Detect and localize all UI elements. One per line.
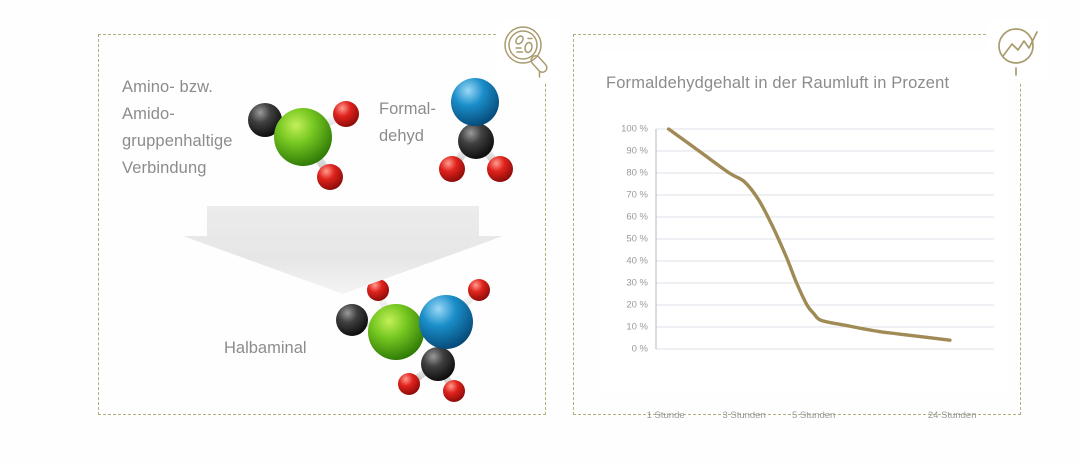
chart-y-tick-label: 50 % xyxy=(626,234,648,245)
chart-x-tick-label: 24 Stunden xyxy=(928,410,977,421)
reaction-arrow-down-icon xyxy=(183,206,503,294)
chart-y-tick-label: 0 % xyxy=(632,344,648,355)
chart-x-tick-label: 5 Stunden xyxy=(792,410,835,421)
chart-y-tick-label: 80 % xyxy=(626,168,648,179)
chart-x-tick-label: 3 Stunden xyxy=(722,410,765,421)
chart-x-tick-label: 1 Stunde xyxy=(647,410,685,421)
chart-y-axis-labels: 100 %90 %80 %70 %60 %50 %40 %30 %20 %10 … xyxy=(598,112,648,337)
chart-y-tick-label: 100 % xyxy=(621,124,648,135)
chart-x-axis-labels: 1 Stunde3 Stunden5 Stunden24 Stunden xyxy=(598,410,1006,428)
magnifier-germ-badge xyxy=(498,20,560,82)
trend-chart-badge xyxy=(988,20,1050,82)
chart-y-tick-label: 20 % xyxy=(626,300,648,311)
chart-card: Formaldehydgehalt in der Raumluft in Pro… xyxy=(598,52,1006,392)
chart-series-line xyxy=(669,129,950,340)
chart-y-tick-label: 30 % xyxy=(626,278,648,289)
halbaminal-label: Halbaminal xyxy=(224,339,307,358)
chart-gridlines xyxy=(656,129,994,349)
chart-plot-area xyxy=(598,112,1006,364)
magnifier-germ-icon xyxy=(501,23,557,79)
chart-title: Formaldehydgehalt in der Raumluft in Pro… xyxy=(606,74,949,93)
trend-chart-icon xyxy=(991,23,1047,79)
amino-compound-molecule xyxy=(238,82,368,197)
chart-y-tick-label: 70 % xyxy=(626,190,648,201)
chart-y-tick-label: 40 % xyxy=(626,256,648,267)
chart-y-tick-label: 10 % xyxy=(626,322,648,333)
formaldehyde-molecule xyxy=(430,72,522,187)
chart-y-tick-label: 60 % xyxy=(626,212,648,223)
chart-y-tick-label: 90 % xyxy=(626,146,648,157)
